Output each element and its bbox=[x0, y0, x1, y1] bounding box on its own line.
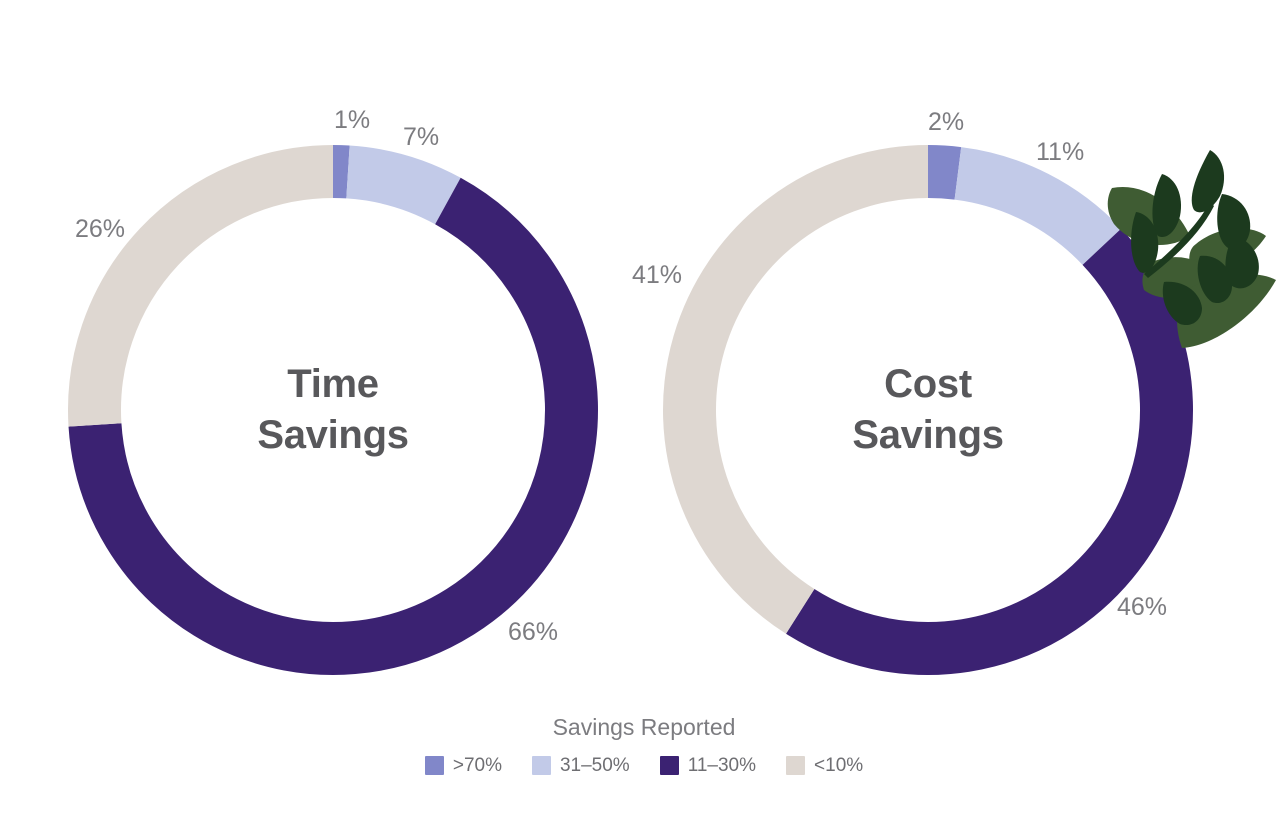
data-label-cost-lt10: 41% bbox=[632, 263, 682, 288]
data-label-cost-11-30: 46% bbox=[1117, 595, 1167, 620]
chart-canvas: Time Savings 1% 7% 66% 26% Cost Savings … bbox=[0, 0, 1288, 826]
legend-item-label: 11–30% bbox=[688, 756, 756, 775]
donut-segment[interactable] bbox=[690, 172, 928, 612]
data-label-time-gt70: 1% bbox=[334, 108, 370, 133]
donut-segment[interactable] bbox=[958, 173, 1102, 246]
donut-rings-time bbox=[53, 130, 613, 690]
legend-swatch-icon bbox=[786, 756, 805, 775]
data-label-time-lt10: 26% bbox=[75, 217, 125, 242]
donut-segments-cost bbox=[690, 172, 1167, 649]
chart-legend: Savings Reported >70%31–50%11–30%<10% bbox=[0, 716, 1288, 775]
legend-swatch-icon bbox=[660, 756, 679, 775]
legend-swatch-icon bbox=[532, 756, 551, 775]
data-label-cost-31-50: 11% bbox=[1036, 140, 1084, 165]
legend-item[interactable]: <10% bbox=[786, 756, 863, 775]
legend-item[interactable]: >70% bbox=[425, 756, 502, 775]
legend-items: >70%31–50%11–30%<10% bbox=[425, 756, 863, 775]
donut-segment[interactable] bbox=[95, 172, 334, 425]
donut-segment[interactable] bbox=[800, 247, 1166, 649]
data-label-cost-gt70: 2% bbox=[928, 110, 964, 135]
donut-segments-time bbox=[95, 172, 572, 649]
legend-swatch-icon bbox=[425, 756, 444, 775]
donut-segment[interactable] bbox=[928, 172, 958, 174]
donut-chart-time-savings: Time Savings bbox=[53, 130, 613, 690]
donut-segment[interactable] bbox=[348, 172, 448, 201]
data-label-time-31-50: 7% bbox=[403, 125, 439, 150]
legend-item[interactable]: 11–30% bbox=[660, 756, 756, 775]
legend-item[interactable]: 31–50% bbox=[532, 756, 630, 775]
legend-title: Savings Reported bbox=[553, 716, 736, 739]
legend-item-label: >70% bbox=[453, 756, 502, 775]
legend-item-label: 31–50% bbox=[560, 756, 630, 775]
data-label-time-11-30: 66% bbox=[508, 620, 558, 645]
legend-item-label: <10% bbox=[814, 756, 863, 775]
